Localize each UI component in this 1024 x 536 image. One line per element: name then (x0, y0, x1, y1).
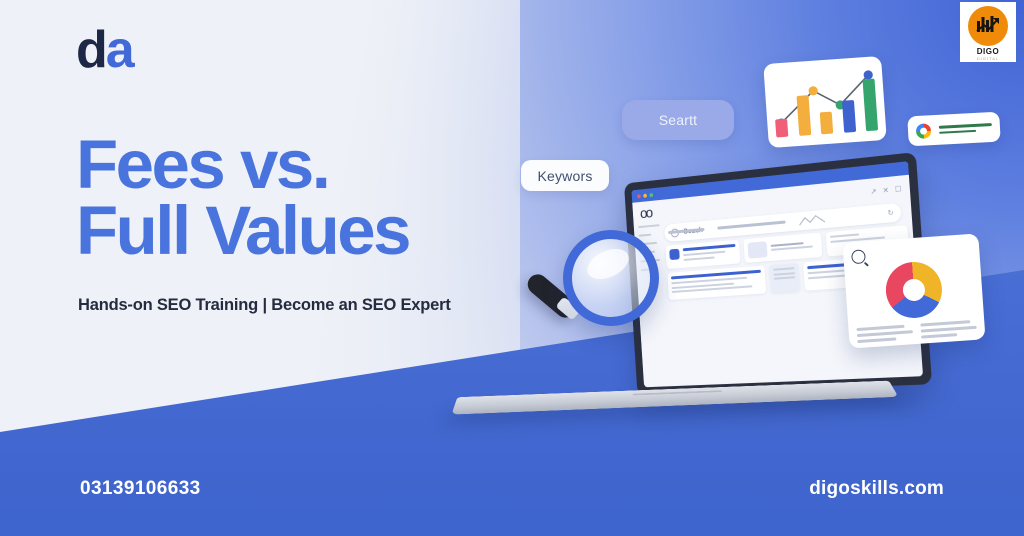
chart-bar (841, 100, 855, 133)
chart-bars (772, 75, 878, 138)
report-line (857, 337, 896, 343)
website-url[interactable]: digoskills.com (809, 478, 944, 500)
report-line (857, 330, 913, 337)
result-line (939, 129, 976, 133)
floating-pill-search[interactable]: Seartt (622, 100, 734, 140)
dashboard-card[interactable] (667, 265, 766, 299)
chart-bar (775, 119, 788, 138)
header-tag (717, 221, 785, 230)
digo-logo-circle (968, 6, 1008, 46)
dashboard-side-card[interactable] (769, 263, 800, 293)
chart-bar (820, 112, 834, 135)
brand-logo-letter-a: a (106, 24, 133, 76)
window-maximize-dot[interactable] (649, 193, 653, 197)
digo-badge-tagline: DIGITAL (977, 56, 999, 61)
expand-icon[interactable]: ↗ (870, 187, 877, 196)
card-text-line (771, 245, 813, 250)
contact-phone[interactable]: 03139106633 (80, 478, 201, 500)
dashboard-card[interactable] (743, 233, 822, 263)
chart-bar (863, 78, 879, 131)
card-text-line (773, 267, 794, 271)
digo-badge-name: DIGO (977, 47, 999, 56)
window-close-dot[interactable] (637, 194, 641, 198)
report-line (921, 326, 977, 333)
window-controls[interactable]: ↗ ✕ ☐ (870, 184, 902, 195)
donut-chart (884, 260, 944, 320)
result-line (939, 123, 992, 128)
seo-course-banner: d a Fees vs. Full Values Hands-on SEO Tr… (0, 0, 1024, 536)
magnifier-glare (583, 243, 634, 285)
card-title-bar (683, 244, 736, 251)
laptop-trackpad-notch (633, 390, 722, 395)
magnifier-lens (563, 230, 659, 326)
report-text-column (920, 320, 977, 339)
growth-chart-icon (975, 14, 1001, 38)
digo-badge[interactable]: DIGO DIGITAL (960, 2, 1016, 62)
card-text-line (830, 233, 859, 237)
square-icon[interactable]: ☐ (895, 184, 902, 193)
chart-bar (796, 95, 811, 136)
report-line (856, 325, 904, 331)
brand-logo[interactable]: d a (76, 24, 133, 76)
floating-pill-search-label: Seartt (659, 112, 698, 128)
report-text-block (856, 320, 977, 343)
result-text-lines (939, 123, 992, 134)
chrome-icon (916, 123, 932, 139)
card-text-line (773, 272, 794, 276)
magnifying-glass-icon (505, 222, 680, 382)
search-icon (851, 249, 866, 264)
browser-result-card (907, 112, 1000, 147)
brand-logo-letter-d: d (76, 24, 106, 76)
chart-plot-area (772, 67, 878, 138)
window-minimize-dot[interactable] (643, 193, 647, 197)
card-text-line (683, 251, 725, 256)
card-text-line (683, 256, 714, 260)
report-text-column (856, 324, 913, 343)
app-logo: oo (640, 206, 652, 221)
sparkline-icon (799, 213, 825, 226)
report-line (921, 333, 958, 339)
analytics-chart-card (763, 56, 887, 148)
seo-report-card (842, 233, 985, 348)
page-subtitle: Hands-on SEO Training | Become an SEO Ex… (78, 296, 451, 315)
card-text-line (774, 276, 795, 280)
card-image-placeholder (748, 241, 768, 258)
close-icon[interactable]: ✕ (882, 186, 889, 195)
